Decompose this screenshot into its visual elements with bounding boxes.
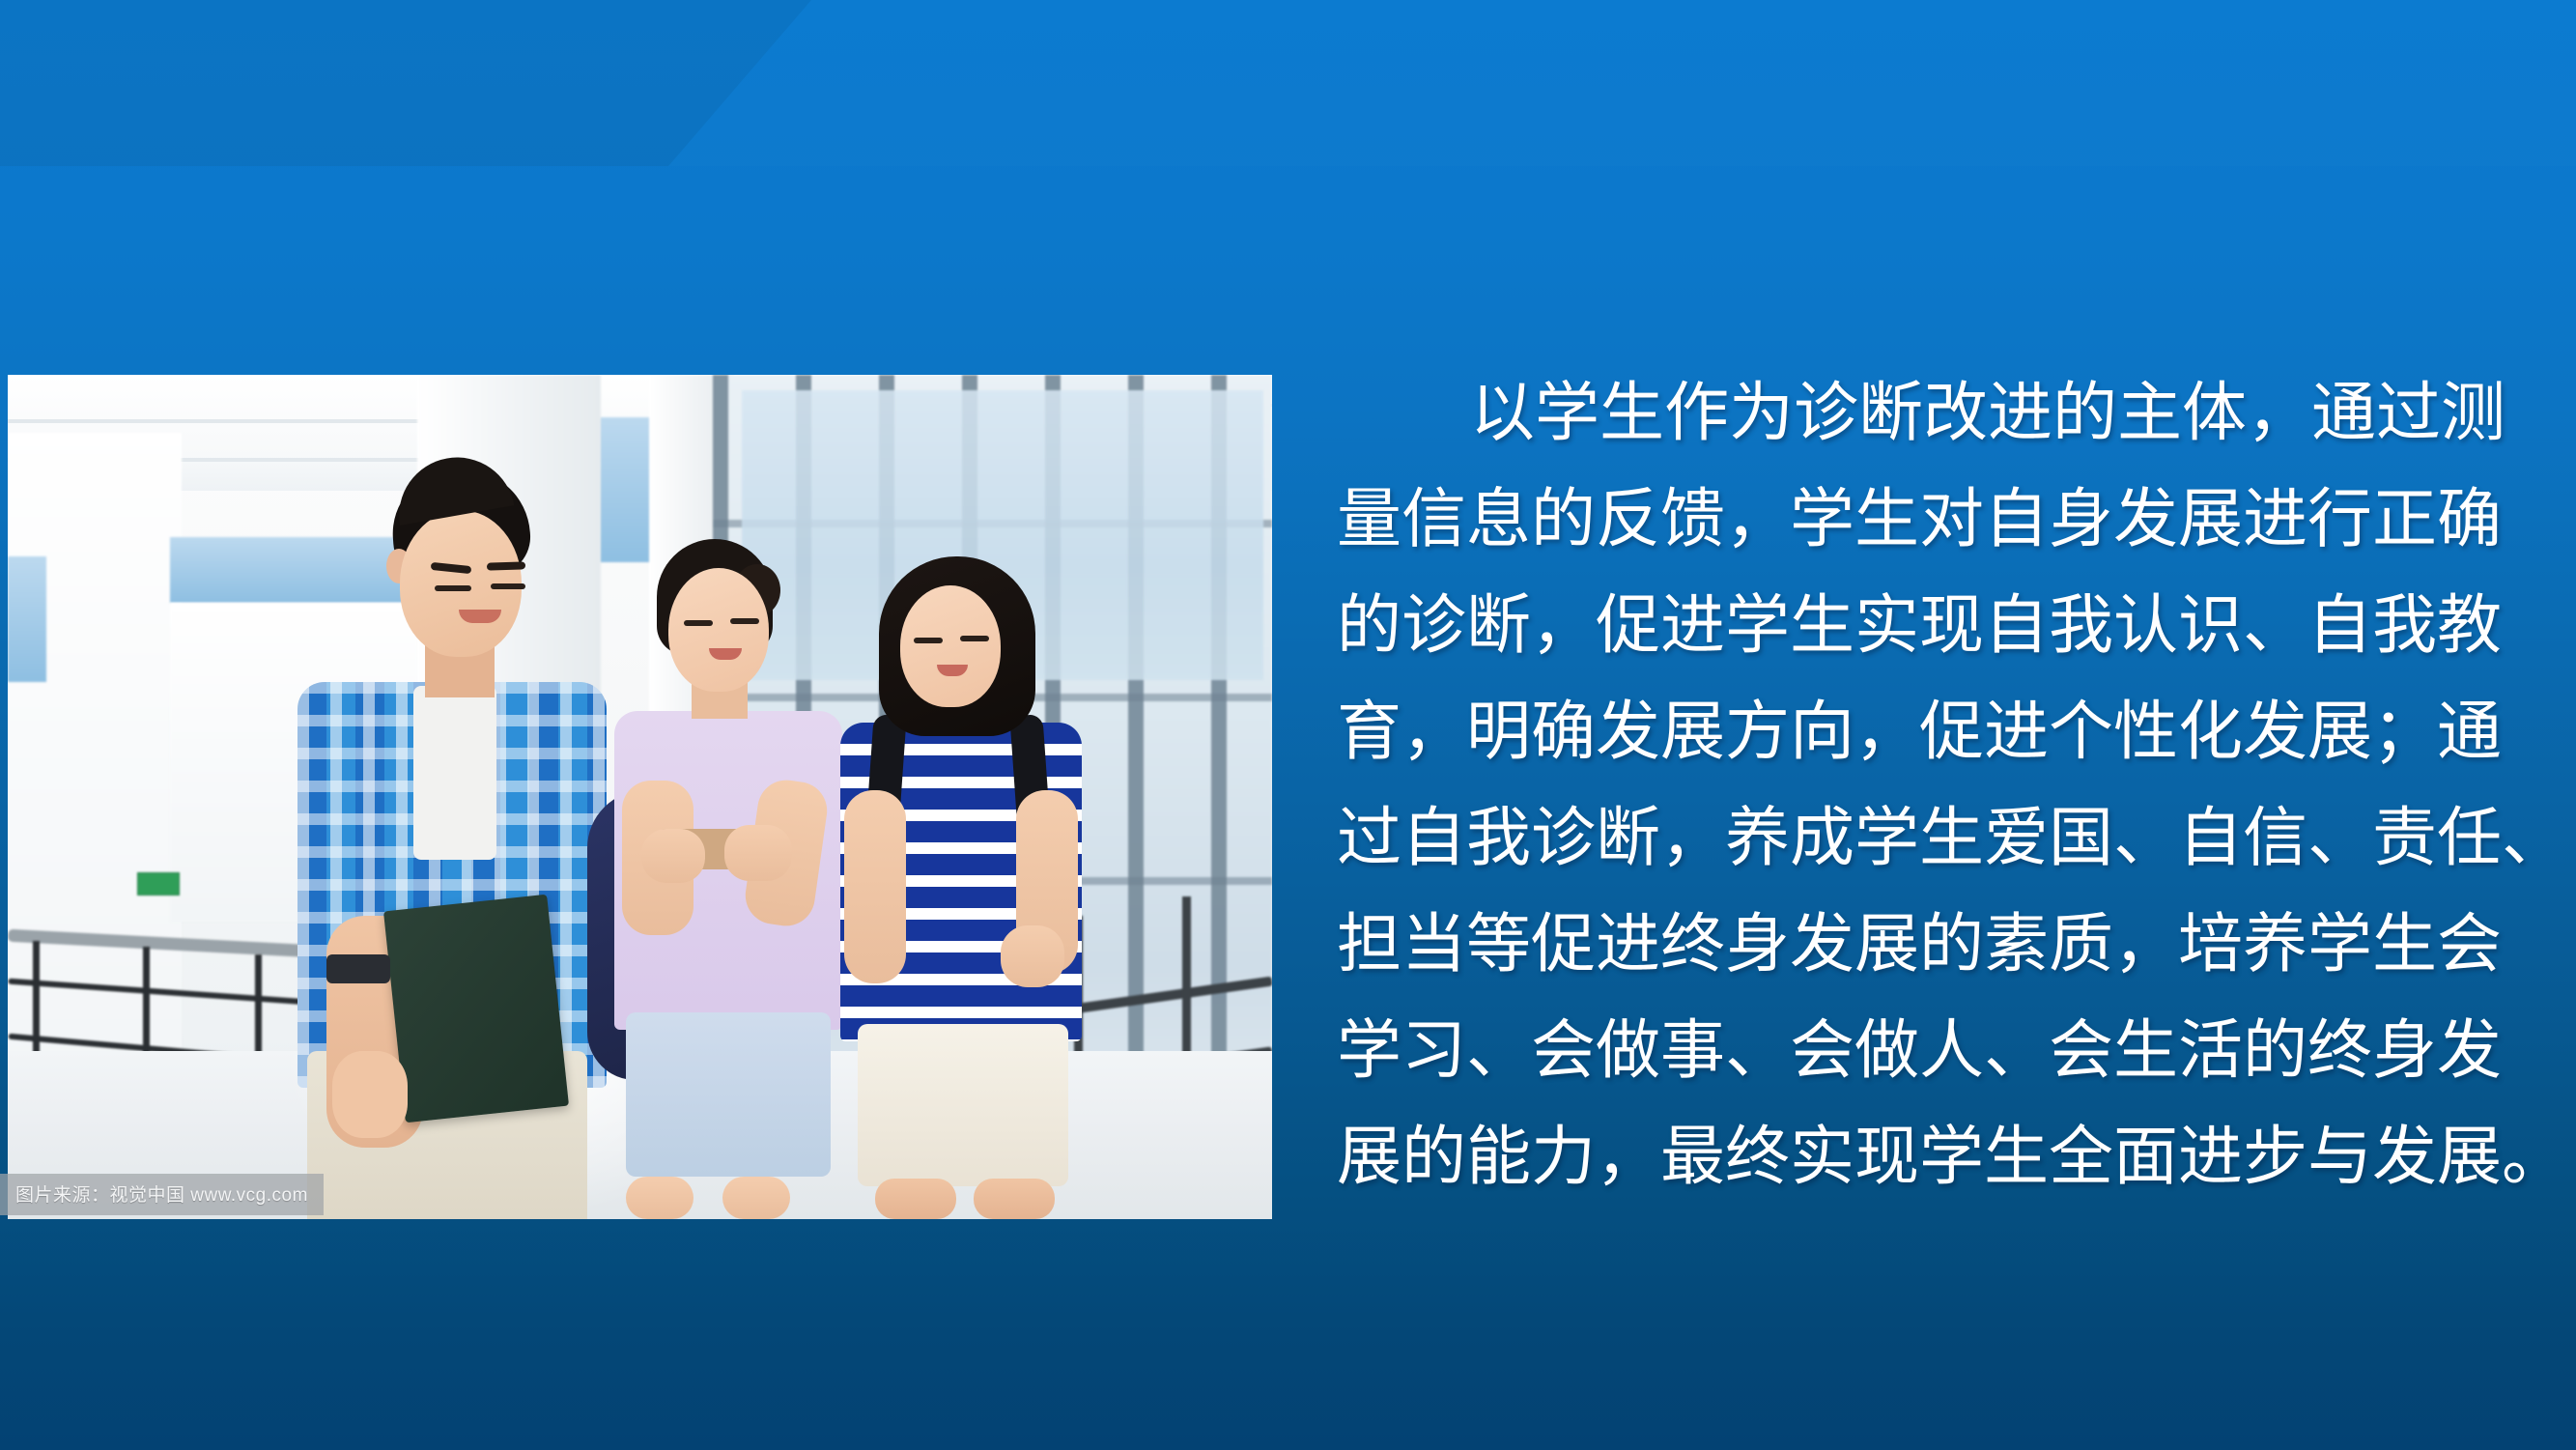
girl2-eye	[960, 636, 989, 641]
exit-sign-icon	[137, 872, 180, 896]
girl1-leg	[626, 1177, 694, 1219]
parallelogram-decoration	[0, 0, 811, 166]
body-line: 的诊断，促进学生实现自我认识、自我教	[1337, 572, 2428, 678]
girl1-hand	[641, 829, 705, 883]
girl1-shorts	[626, 1012, 831, 1177]
window-glass	[8, 556, 46, 682]
slide-body-text: 以学生作为诊断改进的主体，通过测 量信息的反馈，学生对自身发展进行正确 的诊断，…	[1337, 359, 2428, 1209]
boy-watch	[326, 954, 390, 983]
body-line: 学习、会做事、会做人、会生活的终身发	[1337, 997, 2428, 1103]
boy-eye	[491, 583, 525, 589]
girl2-leg	[875, 1179, 956, 1219]
body-line: 育，明确发展方向，促进个性化发展；通	[1337, 678, 2428, 784]
girl2-shorts	[858, 1024, 1068, 1186]
boy-eyebrow	[487, 561, 525, 570]
photo-source-watermark: 图片来源：视觉中国 www.vcg.com	[0, 1174, 324, 1215]
window-glass	[170, 537, 411, 603]
body-line: 以学生作为诊断改进的主体，通过测	[1337, 359, 2428, 466]
body-line: 担当等促进终身发展的素质，培养学生会	[1337, 891, 2428, 997]
girl1-eye	[684, 620, 713, 626]
boy-hand	[332, 1051, 408, 1138]
girl2-eye	[914, 638, 943, 643]
body-line: 量信息的反馈，学生对自身发展进行正确	[1337, 466, 2428, 572]
girl2-leg	[974, 1179, 1055, 1219]
girl2-arm	[844, 790, 906, 983]
girl1-eye	[730, 618, 759, 624]
girl2-hand	[1001, 925, 1064, 987]
girl1-face	[668, 568, 769, 692]
students-photo	[8, 375, 1272, 1219]
window-glass	[599, 417, 653, 562]
girl2-face	[900, 585, 1001, 707]
girl1-leg	[722, 1177, 790, 1219]
boy-inner-tee	[413, 686, 496, 860]
presentation-slide: 图片来源：视觉中国 www.vcg.com 以学生作为诊断改进的主体，通过测 量…	[0, 0, 2576, 1450]
boy-notebook	[383, 895, 569, 1123]
boy-eye	[435, 585, 471, 591]
body-line: 过自我诊断，养成学生爱国、自信、责任、	[1337, 784, 2428, 891]
body-line: 展的能力，最终实现学生全面进步与发展。	[1337, 1103, 2428, 1209]
girl1-hand	[724, 825, 792, 881]
